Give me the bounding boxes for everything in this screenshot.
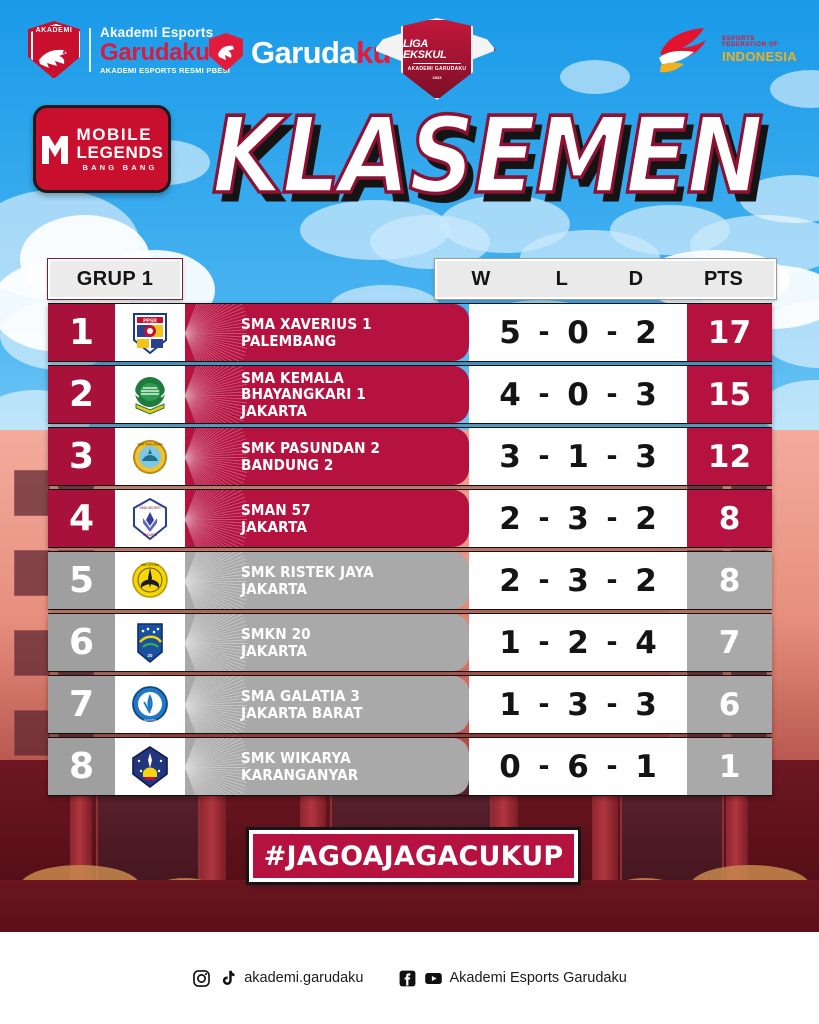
record-losses: 6	[557, 749, 599, 785]
logo-divider	[89, 28, 91, 72]
pbesi-eagle-icon	[654, 24, 716, 76]
row-rank: 5	[48, 552, 115, 609]
team-name-cell: SMA XAVERIUS 1PALEMBANG	[185, 304, 469, 361]
record-draws: 2	[625, 501, 667, 537]
team-name-line2: JAKARTA	[241, 581, 374, 597]
row-rank: 4	[48, 490, 115, 547]
record-losses: 0	[557, 377, 599, 413]
table-row[interactable]: 620SMKN 20JAKARTA1-2-47	[48, 613, 772, 672]
record-separator: -	[531, 441, 557, 472]
svg-text:SMK RISTEK: SMK RISTEK	[141, 563, 159, 567]
social-group-facebook-youtube[interactable]: Akademi Esports Garudaku	[398, 969, 627, 988]
team-crest-icon: SMA NEGERIJAKARTA	[115, 490, 185, 547]
team-name-line1: SMK WIKARYA	[241, 750, 358, 766]
liga-year: 2023	[433, 75, 442, 80]
pbesi-wordmark: ESPORTS FEDERATION OF INDONESIA	[722, 36, 797, 64]
burst-decoration	[185, 738, 247, 795]
social-handle-facebook: Akademi Esports Garudaku	[450, 970, 627, 986]
record-separator: -	[599, 751, 625, 782]
akademi-shield-icon: AKADEMI	[28, 21, 80, 79]
burst-decoration	[185, 614, 247, 671]
svg-text:GALATIA: GALATIA	[144, 718, 156, 722]
svg-text:JAKARTA: JAKARTA	[143, 533, 158, 537]
team-name-line1: SMK PASUNDAN 2	[241, 440, 380, 456]
points-cell: 12	[687, 428, 772, 485]
youtube-icon[interactable]	[424, 969, 443, 988]
record-losses: 3	[557, 563, 599, 599]
table-row[interactable]: 2SMA KEMALA BHAYANGKARI 1JAKARTA4-0-315	[48, 365, 772, 424]
record-separator: -	[531, 317, 557, 348]
team-name: SMA KEMALA BHAYANGKARI 1JAKARTA	[241, 370, 469, 418]
record-separator: -	[531, 627, 557, 658]
logo-pbesi: ESPORTS FEDERATION OF INDONESIA	[654, 24, 797, 76]
burst-decoration	[185, 490, 247, 547]
table-row[interactable]: 3SMK PASUNDANSMK PASUNDAN 2BANDUNG 23-1-…	[48, 427, 772, 486]
team-crest-icon: PPSR	[115, 304, 185, 361]
record-cell: 5-0-2	[469, 304, 687, 361]
record-cell: 2-3-2	[469, 552, 687, 609]
team-crest-icon: 20	[115, 614, 185, 671]
standings-table: 1PPSRSMA XAVERIUS 1PALEMBANG5-0-2172SMA …	[48, 303, 772, 799]
record-wins: 1	[489, 687, 531, 723]
record-cell: 1-2-4	[469, 614, 687, 671]
record-cell: 2-3-2	[469, 490, 687, 547]
record-wins: 0	[489, 749, 531, 785]
row-rank: 7	[48, 676, 115, 733]
table-row[interactable]: 7GALATIASMA GALATIA 3JAKARTA BARAT1-3-36	[48, 675, 772, 734]
building-window	[14, 630, 50, 676]
row-rank: 3	[48, 428, 115, 485]
team-name-line2: JAKARTA	[241, 403, 442, 419]
record-separator: -	[531, 379, 557, 410]
team-name-cell: SMK WIKARYAKARANGANYAR	[185, 738, 469, 795]
record-separator: -	[599, 689, 625, 720]
mobile-legends-m-icon	[40, 132, 70, 166]
garudaku-shield-icon	[209, 33, 243, 71]
svg-text:20: 20	[148, 653, 153, 658]
standings-poster: AKADEMI Akademi Esports Garudaku AKADEMI…	[0, 0, 819, 1024]
liga-badge: LIGA EKSKUL AKADEMI GARUDAKU 2023	[401, 18, 473, 100]
team-name-line1: SMA XAVERIUS 1	[241, 316, 372, 332]
team-crest-icon: GALATIA	[115, 676, 185, 733]
team-name-line1: SMAN 57	[241, 502, 311, 518]
row-rank: 6	[48, 614, 115, 671]
team-name-cell: SMAN 57JAKARTA	[185, 490, 469, 547]
team-name-line2: JAKARTA BARAT	[241, 705, 363, 721]
team-name-cell: SMK PASUNDAN 2BANDUNG 2	[185, 428, 469, 485]
record-separator: -	[599, 565, 625, 596]
hashtag-banner: #JAGOAJAGACUKUP	[249, 830, 578, 882]
group-label-tab: GRUP 1	[48, 259, 182, 299]
record-wins: 3	[489, 439, 531, 475]
record-wins: 2	[489, 501, 531, 537]
header-logo-bar: AKADEMI Akademi Esports Garudaku AKADEMI…	[0, 0, 819, 98]
team-crest-icon: SMK RISTEK	[115, 552, 185, 609]
ground-plaza	[0, 880, 819, 932]
points-cell: 17	[687, 304, 772, 361]
tiktok-icon[interactable]	[218, 969, 237, 988]
column-header-d: D	[599, 268, 673, 291]
team-name-line2: KARANGANYAR	[241, 767, 358, 783]
team-name: SMA GALATIA 3JAKARTA BARAT	[241, 688, 379, 720]
pbesi-line2: FEDERATION OF	[722, 42, 797, 49]
table-row[interactable]: 1PPSRSMA XAVERIUS 1PALEMBANG5-0-217	[48, 303, 772, 362]
record-draws: 1	[625, 749, 667, 785]
building-window	[14, 470, 50, 516]
record-wins: 5	[489, 315, 531, 351]
social-handle-instagram: akademi.garudaku	[244, 970, 363, 986]
burst-decoration	[185, 366, 247, 423]
team-name: SMKN 20JAKARTA	[241, 626, 320, 658]
team-name: SMK RISTEK JAYAJAKARTA	[241, 564, 392, 596]
team-name-cell: SMK RISTEK JAYAJAKARTA	[185, 552, 469, 609]
row-rank: 2	[48, 366, 115, 423]
record-wins: 1	[489, 625, 531, 661]
row-rank: 8	[48, 738, 115, 795]
burst-decoration	[185, 304, 247, 361]
team-name-cell: SMA GALATIA 3JAKARTA BARAT	[185, 676, 469, 733]
logo-akademi-esports-garudaku: AKADEMI Akademi Esports Garudaku AKADEMI…	[28, 21, 230, 79]
points-cell: 15	[687, 366, 772, 423]
record-cell: 1-3-3	[469, 676, 687, 733]
record-separator: -	[599, 441, 625, 472]
record-separator: -	[531, 751, 557, 782]
record-draws: 3	[625, 439, 667, 475]
building-window	[14, 550, 50, 596]
table-row[interactable]: 5SMK RISTEKSMK RISTEK JAYAJAKARTA2-3-28	[48, 551, 772, 610]
record-losses: 3	[557, 501, 599, 537]
stats-column-header: W L D PTS	[435, 259, 776, 299]
mobile-legends-wordmark: MOBILE LEGENDS BANG BANG	[76, 126, 163, 172]
record-separator: -	[599, 379, 625, 410]
points-cell: 8	[687, 552, 772, 609]
record-losses: 3	[557, 687, 599, 723]
hashtag-text: #JAGOAJAGACUKUP	[264, 841, 564, 872]
ml-line3: BANG BANG	[76, 164, 163, 172]
group-label-text: GRUP 1	[77, 268, 154, 291]
table-row[interactable]: 4SMA NEGERIJAKARTASMAN 57JAKARTA2-3-28	[48, 489, 772, 548]
team-name-line2: BANDUNG 2	[241, 457, 380, 473]
garuda-bird-icon	[37, 44, 71, 70]
svg-text:PPSR: PPSR	[143, 318, 157, 324]
record-draws: 2	[625, 563, 667, 599]
liga-title: LIGA EKSKUL	[403, 39, 471, 61]
garudaku-text-white: Garuda	[251, 35, 356, 70]
team-name: SMAN 57JAKARTA	[241, 502, 320, 534]
team-name-line2: PALEMBANG	[241, 333, 372, 349]
team-name-line1: SMA KEMALA BHAYANGKARI 1	[241, 370, 442, 402]
record-losses: 1	[557, 439, 599, 475]
team-name-line1: SMK RISTEK JAYA	[241, 564, 374, 580]
svg-text:SMK PASUNDAN: SMK PASUNDAN	[137, 442, 163, 446]
record-cell: 3-1-3	[469, 428, 687, 485]
column-header-l: L	[525, 268, 599, 291]
logo-liga-ekskul: LIGA EKSKUL AKADEMI GARUDAKU 2023	[374, 16, 496, 98]
record-wins: 2	[489, 563, 531, 599]
points-cell: 6	[687, 676, 772, 733]
burst-decoration	[185, 552, 247, 609]
points-cell: 8	[687, 490, 772, 547]
record-draws: 4	[625, 625, 667, 661]
record-draws: 3	[625, 687, 667, 723]
column-header-w: W	[437, 268, 525, 291]
burst-decoration	[185, 428, 247, 485]
team-name: SMK WIKARYAKARANGANYAR	[241, 750, 374, 782]
logo-garudaku: Garudaku	[209, 33, 391, 71]
team-crest-icon: SMK PASUNDAN	[115, 428, 185, 485]
team-name-cell: SMKN 20JAKARTA	[185, 614, 469, 671]
social-group-instagram-tiktok[interactable]: akademi.garudaku	[192, 969, 363, 988]
record-losses: 2	[557, 625, 599, 661]
record-draws: 3	[625, 377, 667, 413]
burst-decoration	[185, 676, 247, 733]
facebook-icon[interactable]	[398, 969, 417, 988]
instagram-icon[interactable]	[192, 969, 211, 988]
record-losses: 0	[557, 315, 599, 351]
table-row[interactable]: 8SMK WIKARYAKARANGANYAR0-6-11	[48, 737, 772, 796]
record-separator: -	[599, 627, 625, 658]
record-draws: 2	[625, 315, 667, 351]
ml-line2: LEGENDS	[76, 144, 163, 161]
record-separator: -	[599, 317, 625, 348]
team-name-cell: SMA KEMALA BHAYANGKARI 1JAKARTA	[185, 366, 469, 423]
team-name: SMK PASUNDAN 2BANDUNG 2	[241, 440, 399, 472]
team-crest-icon	[115, 738, 185, 795]
record-cell: 0-6-1	[469, 738, 687, 795]
team-name-line1: SMA GALATIA 3	[241, 688, 363, 704]
record-separator: -	[531, 503, 557, 534]
akademi-shield-word: AKADEMI	[28, 27, 80, 34]
points-cell: 7	[687, 614, 772, 671]
footer-social-bar: akademi.garudaku Akademi Esports Garudak…	[0, 932, 819, 1024]
row-rank: 1	[48, 304, 115, 361]
team-name: SMA XAVERIUS 1PALEMBANG	[241, 316, 390, 348]
record-wins: 4	[489, 377, 531, 413]
team-name-line1: SMKN 20	[241, 626, 311, 642]
record-separator: -	[531, 689, 557, 720]
ml-line1: MOBILE	[76, 126, 163, 143]
pbesi-line1: ESPORTS	[722, 36, 797, 43]
liga-subtitle: AKADEMI GARUDAKU	[408, 66, 467, 72]
garudaku-wordmark: Garudaku	[251, 37, 391, 68]
page-title: KLASEMEN	[212, 96, 815, 216]
record-separator: -	[531, 565, 557, 596]
team-crest-icon	[115, 366, 185, 423]
building-window	[14, 710, 50, 756]
pbesi-line3: INDONESIA	[722, 50, 797, 64]
column-header-pts: PTS	[673, 268, 774, 291]
mobile-legends-badge: MOBILE LEGENDS BANG BANG	[33, 105, 171, 193]
points-cell: 1	[687, 738, 772, 795]
team-name-line2: JAKARTA	[241, 643, 311, 659]
svg-text:SMA NEGERI: SMA NEGERI	[139, 506, 160, 510]
record-cell: 4-0-3	[469, 366, 687, 423]
record-separator: -	[599, 503, 625, 534]
team-name-line2: JAKARTA	[241, 519, 311, 535]
